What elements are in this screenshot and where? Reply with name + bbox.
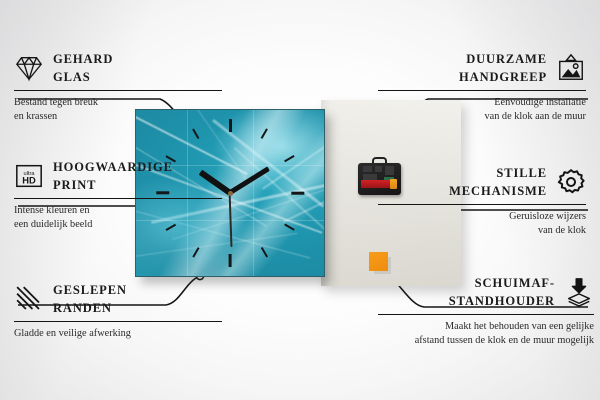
feature-rule <box>378 90 586 92</box>
feature-geslepen-randen: GESLEPEN RANDEN Gladde en veilige afwerk… <box>14 281 222 341</box>
title-line-1: GEHARD <box>53 52 113 66</box>
foam-spacer-pad <box>369 252 388 271</box>
feature-rule <box>14 90 222 92</box>
feature-title: DUURZAME HANDGREEP <box>459 50 547 86</box>
desc-line-1: Geruisloze wijzers <box>509 211 586 222</box>
hour-tick-4 <box>284 224 295 231</box>
hour-tick-7 <box>192 247 199 258</box>
clock-hub <box>228 191 233 196</box>
feature-rule <box>14 198 222 200</box>
feature-description: Maakt het behouden van een gelijke afsta… <box>378 320 594 346</box>
hour-tick-1 <box>261 128 268 139</box>
desc-line-2: van de klok aan de muur <box>484 111 586 122</box>
ultra-hd-icon: ultra HD <box>14 161 44 191</box>
title-line-2: RANDEN <box>53 301 112 315</box>
hour-tick-11 <box>192 128 199 139</box>
feature-title: STILLE MECHANISME <box>449 164 547 200</box>
desc-line-1: Eenvoudige installatie <box>494 97 586 108</box>
feature-description: Eenvoudige installatie van de klok aan d… <box>378 96 586 122</box>
desc-line-2: een duidelijk beeld <box>14 219 92 230</box>
title-line-1: STILLE <box>496 166 547 180</box>
minute-hand <box>229 166 271 195</box>
feature-header: ultra HD HOOGWAARDIGE PRINT <box>14 158 222 194</box>
diagonal-lines-icon <box>14 284 44 314</box>
title-line-1: HOOGWAARDIGE <box>53 160 173 174</box>
feature-header: GESLEPEN RANDEN <box>14 281 222 317</box>
feature-description: Bestand tegen breuk en krassen <box>14 96 222 122</box>
feature-description: Gladde en veilige afwerking <box>14 327 222 340</box>
desc-line-1: Bestand tegen breuk <box>14 97 98 108</box>
mechanism-detail <box>363 166 372 172</box>
desc-line-2: van de klok <box>538 225 586 236</box>
gear-icon <box>556 167 586 197</box>
title-line-1: DUURZAME <box>466 52 547 66</box>
hour-tick-6 <box>229 254 232 267</box>
title-line-2: HANDGREEP <box>459 70 547 84</box>
feature-title: GEHARD GLAS <box>53 50 113 86</box>
title-line-1: GESLEPEN <box>53 283 127 297</box>
hour-tick-12 <box>229 119 232 132</box>
arrow-press-stack-icon <box>564 277 594 307</box>
title-line-1: SCHUIMAF- <box>475 276 555 290</box>
feature-schuimaf-standhouder: SCHUIMAF- STANDHOUDER Maakt het behouden… <box>378 274 594 347</box>
title-line-2: PRINT <box>53 178 96 192</box>
svg-text:HD: HD <box>22 175 36 185</box>
hour-tick-2 <box>284 155 295 162</box>
title-line-2: MECHANISME <box>449 184 547 198</box>
feature-rule <box>14 321 222 323</box>
title-line-2: GLAS <box>53 70 91 84</box>
feature-hoogwaardige-print: ultra HD HOOGWAARDIGE PRINT Intense kleu… <box>14 158 222 231</box>
desc-line-2: en krassen <box>14 111 57 122</box>
diamond-icon <box>14 53 44 83</box>
feature-duurzame-handgreep: DUURZAME HANDGREEP Eenvoudige installati… <box>378 50 586 123</box>
infographic-canvas: GEHARD GLAS Bestand tegen breuk en krass… <box>0 0 600 400</box>
feature-title: SCHUIMAF- STANDHOUDER <box>449 274 555 310</box>
desc-line-1: Gladde en veilige afwerking <box>14 328 131 339</box>
hour-tick-3 <box>291 192 304 195</box>
feature-title: GESLEPEN RANDEN <box>53 281 127 317</box>
second-hand <box>229 193 232 247</box>
desc-line-1: Intense kleuren en <box>14 205 89 216</box>
feature-description: Intense kleuren en een duidelijk beeld <box>14 204 222 230</box>
desc-line-1: Maakt het behouden van een gelijke <box>445 321 594 332</box>
feature-header: SCHUIMAF- STANDHOUDER <box>378 274 594 310</box>
feature-title: HOOGWAARDIGE PRINT <box>53 158 173 194</box>
feature-header: GEHARD GLAS <box>14 50 222 86</box>
desc-line-2: afstand tussen de klok en de muur mogeli… <box>415 335 594 346</box>
feature-rule <box>378 204 586 206</box>
feature-description: Geruisloze wijzers van de klok <box>378 210 586 236</box>
feature-rule <box>378 314 594 316</box>
hour-tick-5 <box>261 247 268 258</box>
feature-header: DUURZAME HANDGREEP <box>378 50 586 86</box>
title-line-2: STANDHOUDER <box>449 294 555 308</box>
feature-gehard-glas: GEHARD GLAS Bestand tegen breuk en krass… <box>14 50 222 123</box>
feature-stille-mechanisme: STILLE MECHANISME Geruisloze wijzers van… <box>378 164 586 237</box>
framed-picture-icon <box>556 53 586 83</box>
feature-header: STILLE MECHANISME <box>378 164 586 200</box>
